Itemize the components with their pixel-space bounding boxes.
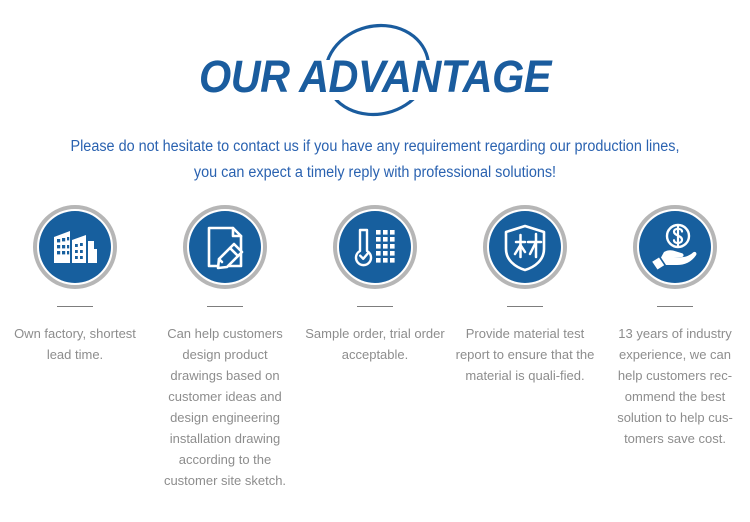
thermometer-check-grid-icon (339, 211, 411, 283)
feature-divider (57, 306, 93, 307)
subtitle-line-2: you can expect a timely reply with profe… (45, 160, 705, 186)
feature-caption: Sample order, trial order acceptable. (305, 323, 445, 365)
feature-badge (328, 200, 422, 294)
feature-divider (357, 306, 393, 307)
feature-item-material-test: Provide material test report to ensure t… (450, 200, 600, 386)
feature-divider (207, 306, 243, 307)
feature-badge (28, 200, 122, 294)
feature-divider (507, 306, 543, 307)
page-header: OUR ADVANTAGE (0, 18, 750, 123)
feature-badge (478, 200, 572, 294)
hand-holding-dollar-icon (639, 211, 711, 283)
feature-caption: Can help customers design product drawin… (155, 323, 295, 491)
shield-material-icon (489, 211, 561, 283)
feature-item-save-cost: 13 years of industry experience, we can … (600, 200, 750, 449)
feature-caption: 13 years of industry experience, we can … (608, 323, 743, 449)
feature-badge (178, 200, 272, 294)
subtitle: Please do not hesitate to contact us if … (45, 134, 705, 186)
feature-item-own-factory: Own factory, shortest lead time. (0, 200, 150, 365)
feature-caption: Provide material test report to ensure t… (455, 323, 595, 386)
feature-badge (628, 200, 722, 294)
feature-item-sample-order: Sample order, trial order acceptable. (300, 200, 450, 365)
advantage-feature-row: Own factory, shortest lead time. (0, 200, 750, 491)
page-title: OUR ADVANTAGE (30, 51, 720, 103)
feature-divider (657, 306, 693, 307)
subtitle-line-1: Please do not hesitate to contact us if … (45, 134, 705, 160)
feature-item-design-drawings: Can help customers design product drawin… (150, 200, 300, 491)
factory-buildings-icon (39, 211, 111, 283)
feature-caption: Own factory, shortest lead time. (0, 323, 150, 365)
document-pencil-design-icon (189, 211, 261, 283)
